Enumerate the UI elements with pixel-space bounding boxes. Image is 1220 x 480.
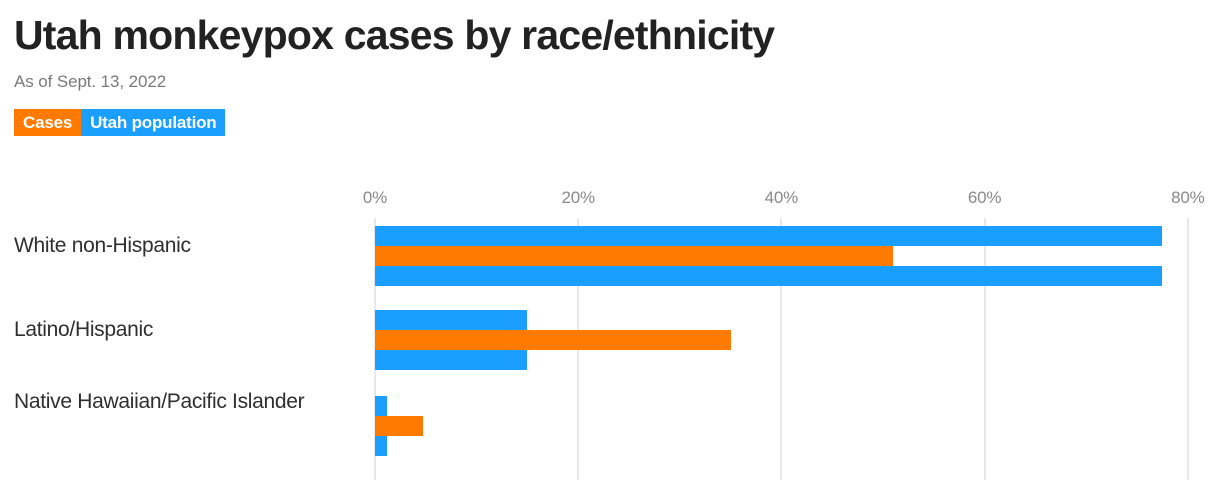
x-axis-tick-labels: 0%20%40%60%80% xyxy=(0,188,1220,218)
x-axis-tick-label: 40% xyxy=(765,188,798,208)
x-axis-tick-label: 20% xyxy=(561,188,594,208)
chart-subtitle: As of Sept. 13, 2022 xyxy=(14,72,1220,92)
legend-item-utah-population[interactable]: Utah population xyxy=(81,109,225,136)
chart-legend: Cases Utah population xyxy=(14,109,225,136)
bar-utah-population-top[interactable] xyxy=(375,396,387,416)
bar-utah-population-top[interactable] xyxy=(375,226,1162,246)
x-axis-tick-label: 0% xyxy=(363,188,387,208)
x-axis-tick-label: 60% xyxy=(968,188,1001,208)
plot-area: 0%20%40%60%80% White non-HispanicLatino/… xyxy=(0,188,1220,480)
bar-cases[interactable] xyxy=(375,330,731,350)
category-label: Latino/Hispanic xyxy=(14,316,369,343)
legend-item-cases[interactable]: Cases xyxy=(14,109,81,136)
x-axis-tick-label: 80% xyxy=(1171,188,1204,208)
bar-utah-population-bottom[interactable] xyxy=(375,266,1162,286)
page-title: Utah monkeypox cases by race/ethnicity xyxy=(14,14,1220,57)
bar-utah-population-bottom[interactable] xyxy=(375,436,387,456)
category-label: White non-Hispanic xyxy=(14,232,369,259)
bar-utah-population-top[interactable] xyxy=(375,310,527,330)
bar-groups: White non-HispanicLatino/HispanicNative … xyxy=(0,218,1220,480)
legend-label-cases: Cases xyxy=(23,113,72,133)
legend-label-utah-population: Utah population xyxy=(90,113,216,133)
category-label: Native Hawaiian/Pacific Islander xyxy=(14,388,369,415)
bar-utah-population-bottom[interactable] xyxy=(375,350,527,370)
bar-cases[interactable] xyxy=(375,246,893,266)
chart-container: Utah monkeypox cases by race/ethnicity A… xyxy=(0,0,1220,480)
chart-header: Utah monkeypox cases by race/ethnicity A… xyxy=(0,0,1220,92)
bar-cases[interactable] xyxy=(375,416,423,436)
